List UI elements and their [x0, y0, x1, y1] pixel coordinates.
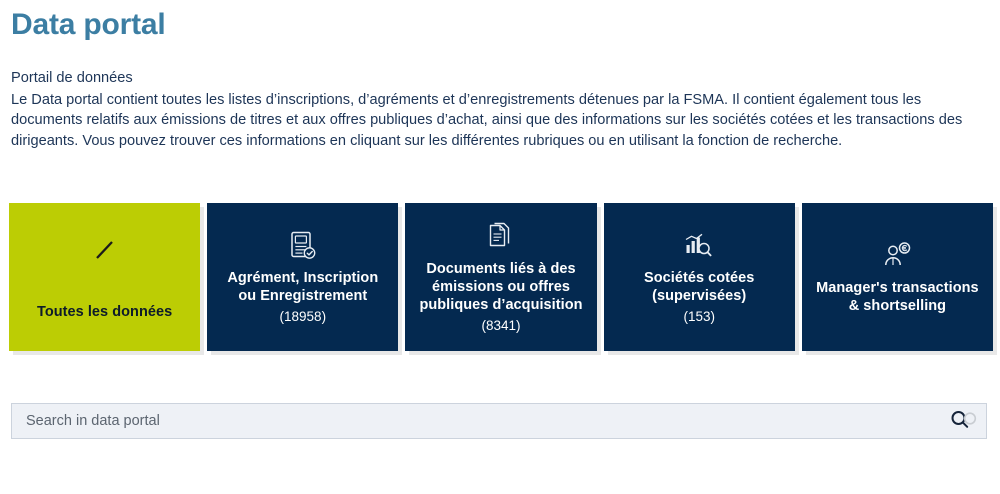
tile-label: Documents liés à des émissions ou offres… — [416, 260, 586, 314]
tile-count: (153) — [683, 307, 715, 326]
intro-text-block: Portail de données Le Data portal contie… — [11, 68, 986, 151]
data-portal-page: Data portal Portail de données Le Data p… — [0, 0, 1000, 494]
diagonal-stroke-icon — [91, 231, 119, 269]
tile-managers-transactions-shortselling[interactable]: Manager's transactions & shortselling — [802, 203, 993, 351]
search-icon — [949, 409, 977, 434]
certificate-document-icon — [288, 227, 318, 265]
tile-label: Manager's transactions & shortselling — [812, 279, 982, 315]
tile-toutes-les-donnees[interactable]: Toutes les données — [9, 203, 200, 351]
bar-chart-magnifier-icon — [683, 227, 715, 265]
tile-societes-cotees[interactable]: Sociétés cotées (supervisées) (153) — [604, 203, 795, 351]
page-title: Data portal — [11, 5, 166, 45]
stacked-documents-icon — [486, 218, 516, 256]
tile-label: Toutes les données — [37, 303, 172, 321]
person-euro-icon — [881, 237, 913, 275]
intro-body: Le Data portal contient toutes les liste… — [11, 90, 986, 152]
search-input[interactable] — [12, 404, 942, 438]
search-bar[interactable] — [11, 403, 987, 439]
tile-count: (8341) — [481, 316, 520, 335]
tile-label: Agrément, Inscription ou Enregistrement — [218, 269, 388, 305]
intro-lead: Portail de données — [11, 68, 986, 89]
search-button[interactable] — [942, 404, 984, 438]
tile-documents-emissions-offres-publiques[interactable]: Documents liés à des émissions ou offres… — [405, 203, 596, 351]
tile-label: Sociétés cotées (supervisées) — [614, 269, 784, 305]
tile-count: (18958) — [280, 307, 327, 326]
category-tile-row: Toutes les données Agrément, Inscription… — [9, 203, 993, 351]
tile-agrement-inscription-enregistrement[interactable]: Agrément, Inscription ou Enregistrement … — [207, 203, 398, 351]
